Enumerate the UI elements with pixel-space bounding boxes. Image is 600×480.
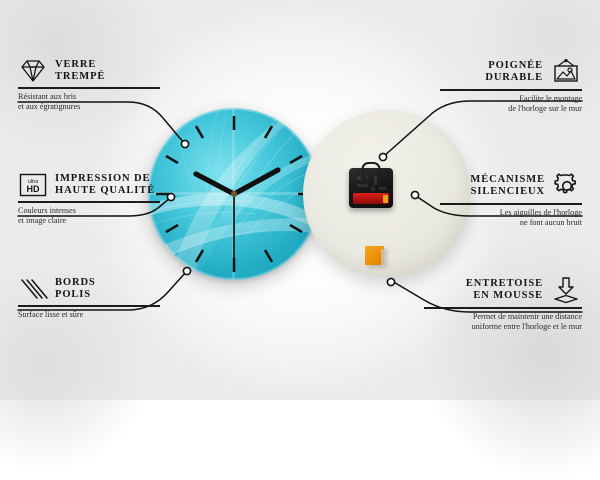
- svg-text:HD: HD: [27, 184, 40, 194]
- feature-subtitle-2: ne font aucun bruit: [440, 218, 582, 228]
- feature-rule: [18, 305, 160, 307]
- feature-entretoise-en-mousse[interactable]: ENTRETOISE EN MOUSSE Permet de maintenir…: [424, 276, 582, 332]
- feature-rule: [424, 307, 582, 309]
- feature-title-2: DURABLE: [485, 72, 543, 85]
- arrow-down-stack-icon: [550, 276, 582, 304]
- feature-mecanisme-silencieux[interactable]: MÉCANISME SILENCIEUX Les aiguilles de l'…: [440, 172, 582, 228]
- feature-rule: [18, 201, 160, 203]
- feature-title: IMPRESSION DE: [55, 173, 155, 186]
- feature-subtitle-2: et aux égratignures: [18, 102, 160, 112]
- feature-title: VERRE: [55, 59, 105, 72]
- feature-title-2: POLIS: [55, 289, 96, 302]
- feature-subtitle: Résistant aux bris: [18, 92, 160, 102]
- feature-rule: [440, 203, 582, 205]
- feature-subtitle: Surface lisse et sûre: [18, 310, 160, 320]
- feature-title: BORDS: [55, 277, 96, 290]
- ultra-hd-icon: ultra HD: [18, 172, 48, 198]
- diamond-icon: [18, 58, 48, 84]
- feature-title-2: HAUTE QUALITÉ: [55, 185, 155, 198]
- framed-picture-icon: [550, 58, 582, 86]
- feature-subtitle: Les aiguilles de l'horloge: [440, 208, 582, 218]
- feature-subtitle-2: de l'horloge sur le mur: [440, 104, 582, 114]
- feature-title: POIGNÉE: [485, 60, 543, 73]
- feature-impression-haute-qualite[interactable]: ultra HD IMPRESSION DE HAUTE QUALITÉ Cou…: [18, 172, 160, 226]
- feature-rule: [18, 87, 160, 89]
- feature-subtitle: Permet de maintenir une distance: [424, 312, 582, 322]
- feature-subtitle-2: uniforme entre l'horloge et le mur: [424, 322, 582, 332]
- feature-title-2: TREMPÉ: [55, 71, 105, 84]
- feature-subtitle-2: et image claire: [18, 216, 160, 226]
- feature-title: ENTRETOISE: [466, 278, 543, 291]
- feature-subtitle: Couleurs intenses: [18, 206, 160, 216]
- feature-bords-polis[interactable]: BORDS POLIS Surface lisse et sûre: [18, 276, 160, 320]
- feature-rule: [440, 89, 582, 91]
- infographic-canvas: VERRE TREMPÉ Résistant aux bris et aux é…: [0, 0, 600, 400]
- gear-icon: [552, 172, 582, 200]
- feature-verre-trempe[interactable]: VERRE TREMPÉ Résistant aux bris et aux é…: [18, 58, 160, 112]
- feature-poignee-durable[interactable]: POIGNÉE DURABLE Facilite le montage de l…: [440, 58, 582, 114]
- diagonal-lines-icon: [18, 276, 48, 302]
- feature-subtitle: Facilite le montage: [440, 94, 582, 104]
- feature-title-2: EN MOUSSE: [466, 290, 543, 303]
- feature-title-2: SILENCIEUX: [470, 186, 545, 199]
- feature-title: MÉCANISME: [470, 174, 545, 187]
